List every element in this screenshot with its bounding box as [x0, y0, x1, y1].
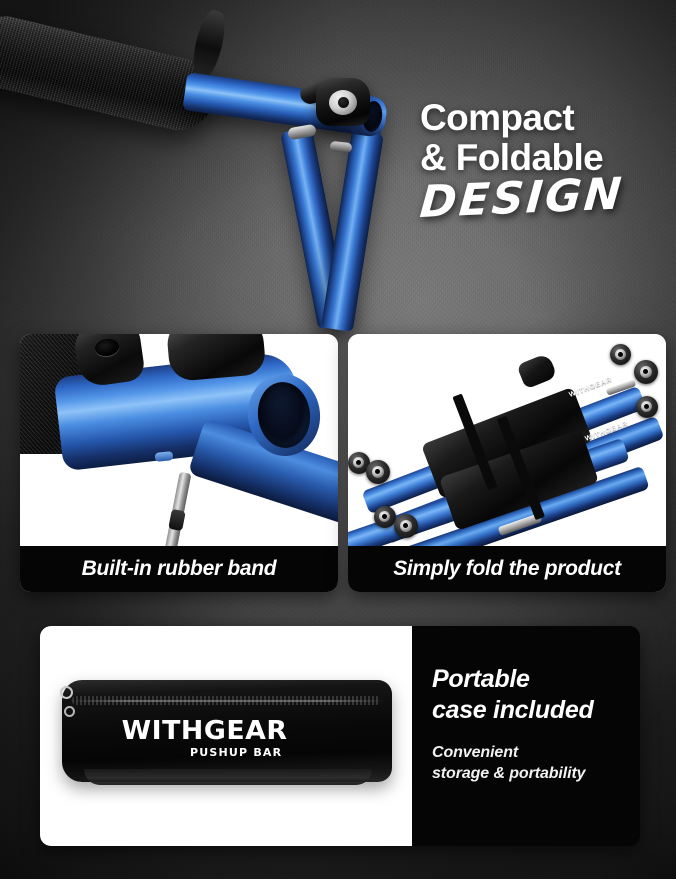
- zipper-pull-icon: [60, 686, 73, 699]
- foam-end-cap-icon: [188, 8, 229, 80]
- portable-heading-line-1: Portable: [432, 664, 640, 695]
- portable-case-text-block: Portable case included Convenient storag…: [412, 626, 640, 846]
- case-base: [84, 769, 372, 785]
- foam-grain-texture: [0, 9, 221, 137]
- portable-subtext-line-1: Convenient: [432, 742, 640, 763]
- case-seam: [70, 700, 384, 702]
- zipper-pull-2-icon: [64, 706, 75, 717]
- end-cap-icon: [516, 353, 557, 390]
- pivot-hole-1-icon: [618, 352, 623, 357]
- knob-hole-icon: [338, 97, 349, 108]
- tube-notch: [155, 451, 174, 462]
- rubber-band-caption-bar: Built-in rubber band: [20, 546, 338, 592]
- pivot-hole-4-icon: [356, 460, 361, 465]
- fold-product-caption-bar: Simply fold the product: [348, 546, 666, 592]
- carry-case-icon: WITHGEAR PUSHUP BAR: [62, 680, 392, 782]
- portable-subtext-line-2: storage & portability: [432, 763, 640, 784]
- headline-line-1: Compact: [420, 98, 670, 138]
- fold-product-panel: WITHGEAR WITHGEAR Simply fold the produc…: [348, 334, 666, 592]
- rubber-band-knot: [168, 509, 186, 531]
- portable-case-panel: WITHGEAR PUSHUP BAR Portable case includ…: [40, 626, 640, 846]
- headline-script: DESIGN: [418, 171, 673, 225]
- rubber-band-icon: [164, 472, 191, 546]
- product-infographic: Compact & Foldable DESIGN Built-in rubbe…: [0, 0, 676, 879]
- rubber-band-photo: [20, 334, 338, 546]
- portable-heading-line-2: case included: [432, 695, 640, 726]
- headline-block: Compact & Foldable DESIGN: [420, 98, 670, 225]
- pivot-washer-2-icon: [330, 141, 353, 153]
- hero-section: Compact & Foldable DESIGN: [0, 0, 676, 318]
- fold-product-caption-text: Simply fold the product: [393, 557, 621, 581]
- brand-mark-1: WITHGEAR: [568, 376, 613, 399]
- fold-product-photo: WITHGEAR WITHGEAR: [348, 334, 666, 546]
- case-logo-text: WITHGEAR: [122, 716, 288, 746]
- rubber-band-caption-text: Built-in rubber band: [82, 557, 277, 581]
- rubber-band-panel: Built-in rubber band: [20, 334, 338, 592]
- pivot-hole-5-icon: [375, 469, 380, 474]
- pivot-hole-6-icon: [382, 514, 387, 519]
- pivot-hole-2-icon: [643, 369, 648, 374]
- case-sublogo-text: PUSHUP BAR: [190, 746, 282, 759]
- foam-grip-icon: [0, 9, 221, 137]
- carry-case-photo: WITHGEAR PUSHUP BAR: [40, 626, 412, 846]
- pivot-hole-3-icon: [644, 404, 649, 409]
- pivot-hole-7-icon: [403, 523, 408, 528]
